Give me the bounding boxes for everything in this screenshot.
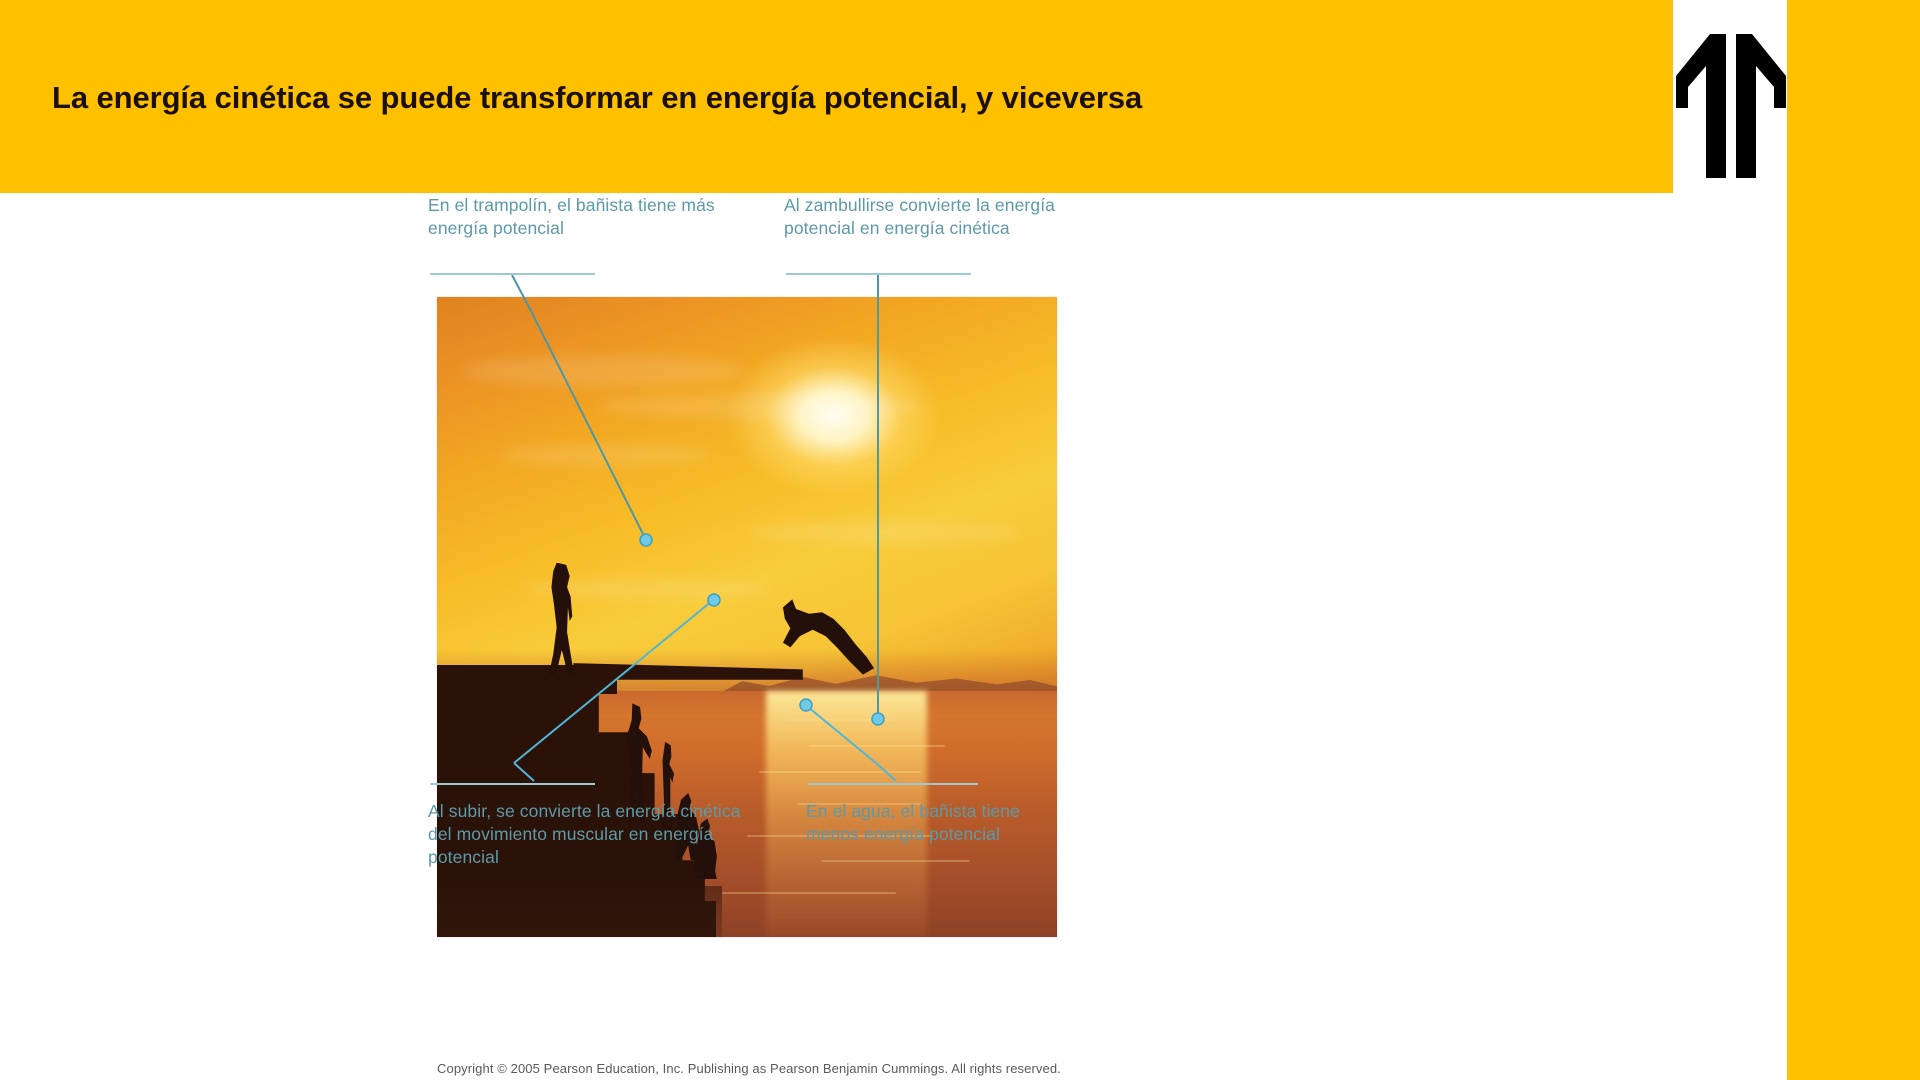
- water-ripple: [809, 745, 945, 747]
- upward-arrow-logo-icon: [1676, 30, 1786, 195]
- copyright-notice: Copyright © 2005 Pearson Education, Inc.…: [437, 1061, 1061, 1076]
- cloud-band: [462, 355, 747, 387]
- annotation-rule-top-right: [786, 273, 971, 275]
- slide: La energía cinética se puede transformar…: [0, 0, 1920, 1080]
- cloud-band: [598, 393, 920, 419]
- slide-title: La energía cinética se puede transformar…: [52, 80, 1532, 116]
- wall-reflection: [437, 886, 722, 937]
- cloud-band: [499, 444, 710, 466]
- figure-region: En el trampolín, el bañista tiene más en…: [0, 193, 1673, 1080]
- annotation-rule-bottom-left: [430, 783, 595, 785]
- cloud-band: [747, 521, 1020, 544]
- annotation-top-right: Al zambullirse convierte la energía pote…: [784, 194, 1114, 240]
- annotation-rule-bottom-right: [808, 783, 978, 785]
- annotation-bottom-right: En el agua, el bañista tiene menos energ…: [806, 800, 1046, 846]
- right-yellow-band: [1787, 0, 1920, 1080]
- water-ripple: [722, 892, 896, 894]
- annotation-top-left: En el trampolín, el bañista tiene más en…: [428, 194, 728, 240]
- water-ripple: [821, 860, 970, 862]
- water-ripple: [759, 771, 920, 773]
- annotation-bottom-left: Al subir, se convierte la energía cinéti…: [428, 800, 748, 868]
- annotation-rule-top-left: [430, 273, 595, 275]
